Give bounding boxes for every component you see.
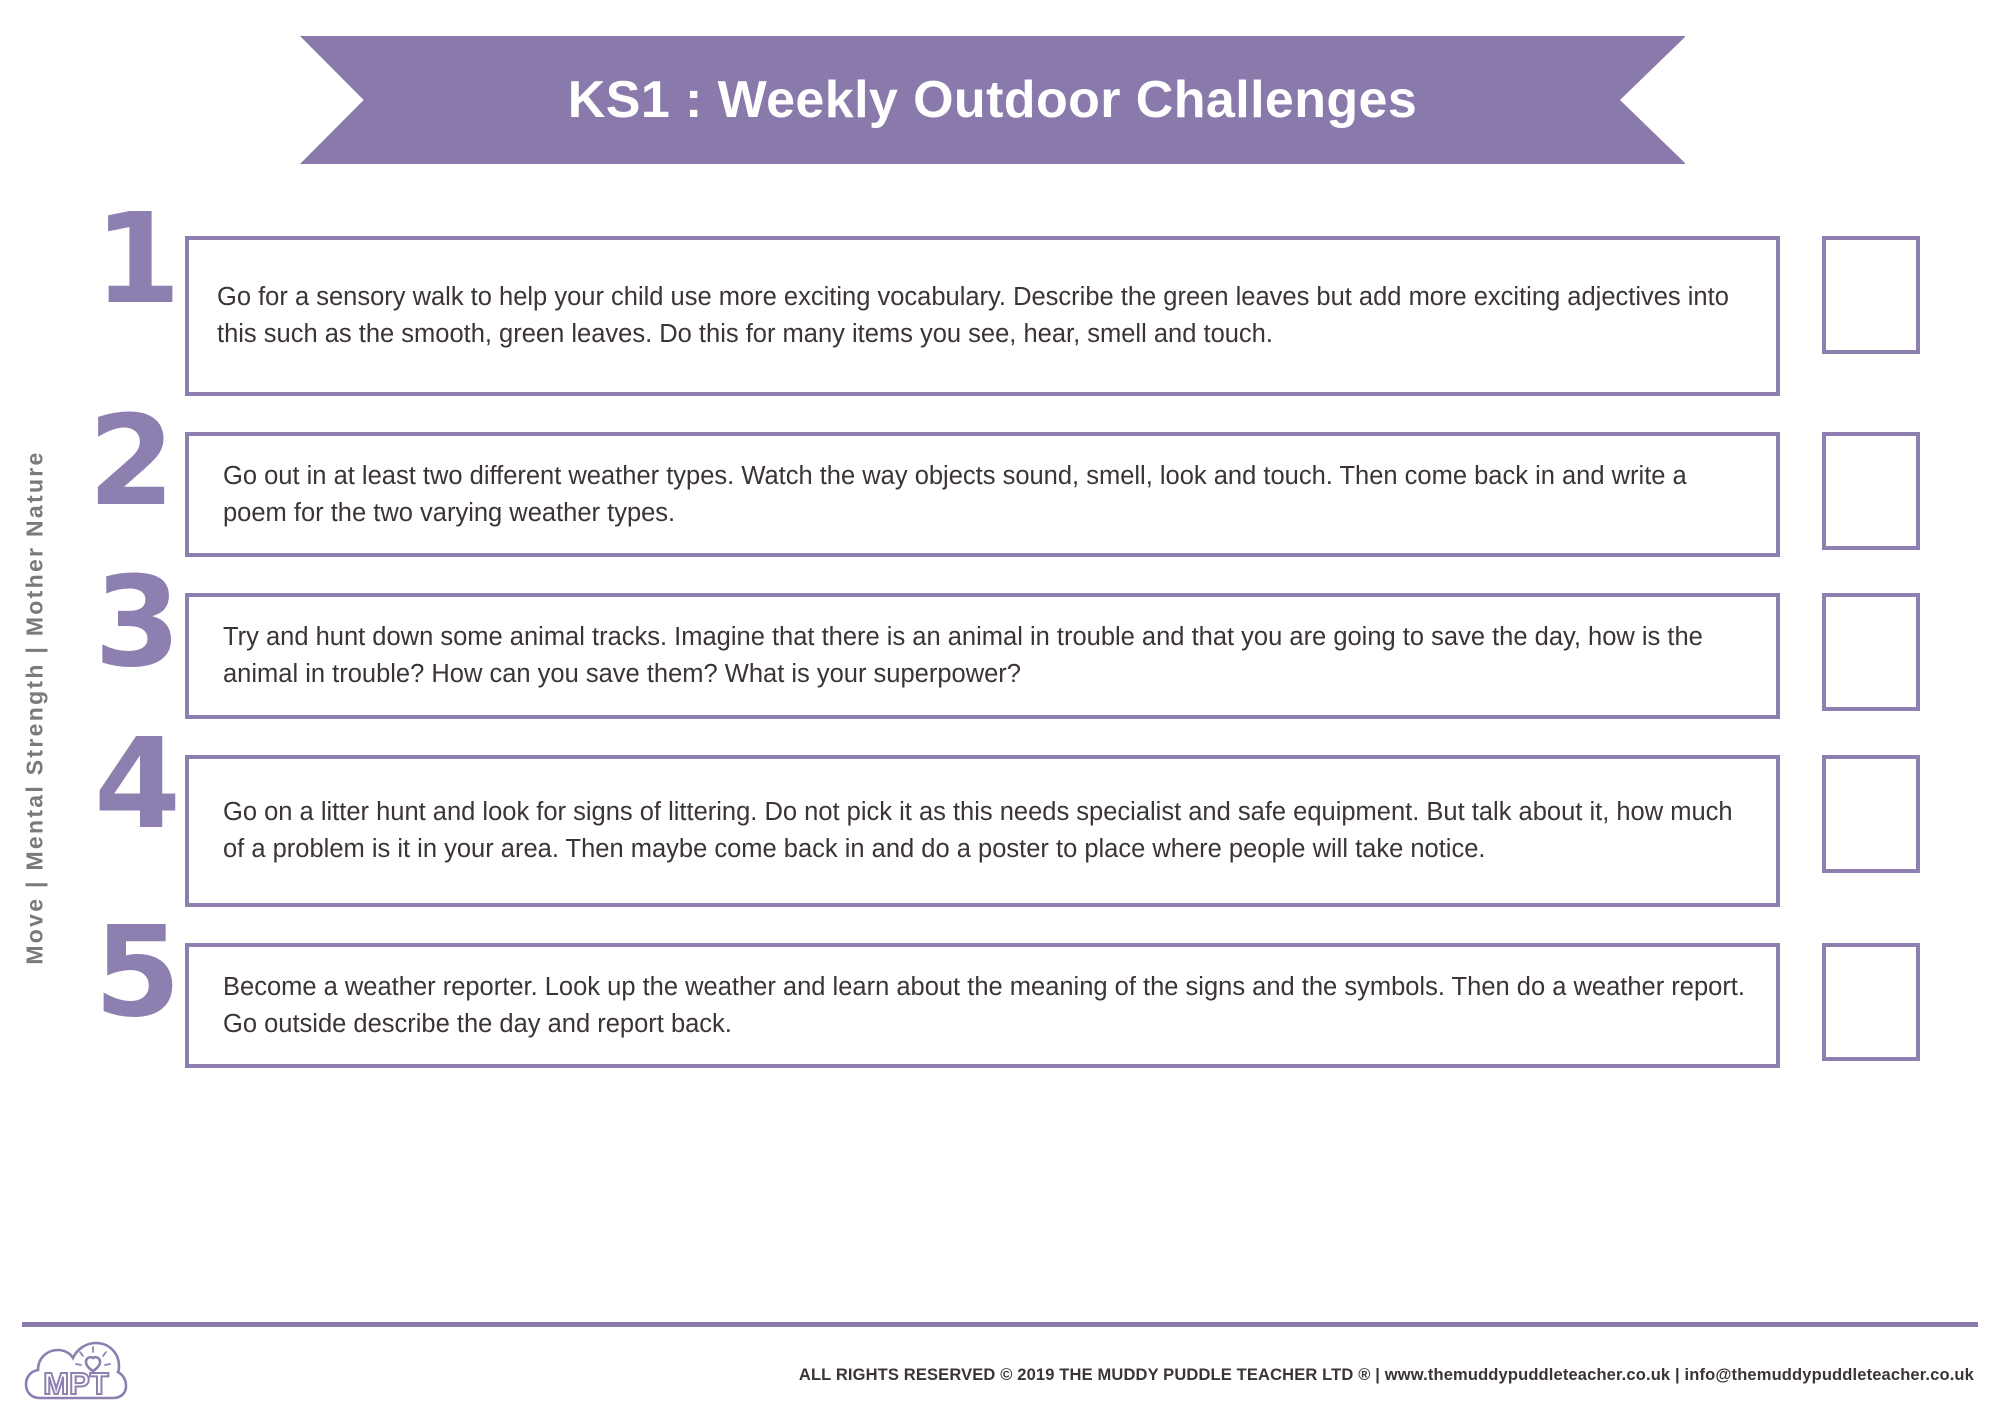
- footer-copyright: ALL RIGHTS RESERVED © 2019 THE MUDDY PUD…: [799, 1366, 1974, 1385]
- challenge-text: Go on a litter hunt and look for signs o…: [223, 794, 1750, 867]
- challenge-number: 2: [84, 404, 179, 519]
- challenge-list: 1 Go for a sensory walk to help your chi…: [90, 236, 1920, 1104]
- challenge-row: 2 Go out in at least two different weath…: [84, 432, 1920, 557]
- challenge-number: 4: [90, 727, 185, 842]
- worksheet-page: KS1 : Weekly Outdoor Challenges Move | M…: [0, 0, 2000, 1414]
- challenge-box: Become a weather reporter. Look up the w…: [185, 943, 1780, 1068]
- challenge-number: 5: [90, 915, 185, 1030]
- mpt-logo-text: MPT: [43, 1366, 109, 1401]
- challenge-text: Go for a sensory walk to help your child…: [217, 279, 1750, 352]
- challenge-checkbox[interactable]: [1822, 236, 1920, 354]
- challenge-row: 4 Go on a litter hunt and look for signs…: [90, 755, 1920, 907]
- challenge-text: Become a weather reporter. Look up the w…: [223, 969, 1750, 1042]
- challenge-checkbox[interactable]: [1822, 593, 1920, 711]
- header-banner: KS1 : Weekly Outdoor Challenges: [300, 36, 1685, 164]
- challenge-checkbox[interactable]: [1822, 432, 1920, 550]
- challenge-box: Try and hunt down some animal tracks. Im…: [185, 593, 1780, 718]
- challenge-row: 5 Become a weather reporter. Look up the…: [90, 943, 1920, 1068]
- challenge-box: Go on a litter hunt and look for signs o…: [185, 755, 1780, 907]
- footer: MPT ALL RIGHTS RESERVED © 2019 THE MUDDY…: [0, 1330, 2000, 1414]
- page-title: KS1 : Weekly Outdoor Challenges: [568, 70, 1417, 130]
- vertical-side-label: Move | Mental Strength | Mother Nature: [0, 0, 70, 1414]
- challenge-box: Go for a sensory walk to help your child…: [185, 236, 1780, 396]
- challenge-text: Go out in at least two different weather…: [223, 458, 1750, 531]
- challenge-box: Go out in at least two different weather…: [185, 432, 1780, 557]
- challenge-row: 3 Try and hunt down some animal tracks. …: [90, 593, 1920, 718]
- challenge-checkbox[interactable]: [1822, 943, 1920, 1061]
- footer-divider: [22, 1322, 1978, 1327]
- challenge-number: 1: [90, 202, 185, 317]
- challenge-number: 3: [90, 565, 185, 680]
- cloud-with-heart-icon: MPT: [24, 1336, 128, 1408]
- vertical-side-label-text: Move | Mental Strength | Mother Nature: [22, 450, 49, 964]
- challenge-text: Try and hunt down some animal tracks. Im…: [223, 619, 1750, 692]
- challenge-checkbox[interactable]: [1822, 755, 1920, 873]
- mpt-logo: MPT: [24, 1336, 128, 1408]
- challenge-row: 1 Go for a sensory walk to help your chi…: [90, 236, 1920, 396]
